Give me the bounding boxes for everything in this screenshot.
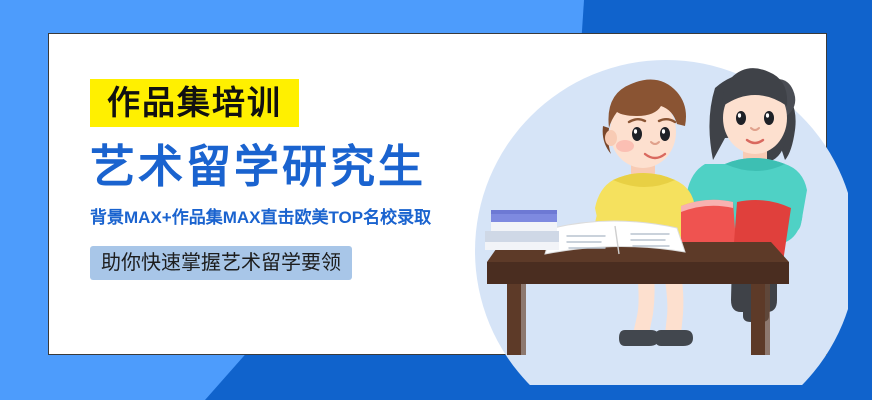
subtitle: 背景MAX+作品集MAX直击欧美TOP名校录取: [90, 206, 490, 230]
stack-of-books: [485, 210, 559, 250]
status-badge: 助你快速掌握艺术留学要领: [90, 246, 352, 280]
kicker-badge: 作品集培训: [90, 79, 299, 127]
promo-banner: 作品集培训 艺术留学研究生 背景MAX+作品集MAX直击欧美TOP名校录取 助你…: [0, 0, 872, 400]
banner-text-block: 作品集培训 艺术留学研究生 背景MAX+作品集MAX直击欧美TOP名校录取 助你…: [90, 79, 490, 280]
page-title: 艺术留学研究生: [90, 140, 490, 194]
illustration-two-students-reading: [485, 60, 815, 355]
